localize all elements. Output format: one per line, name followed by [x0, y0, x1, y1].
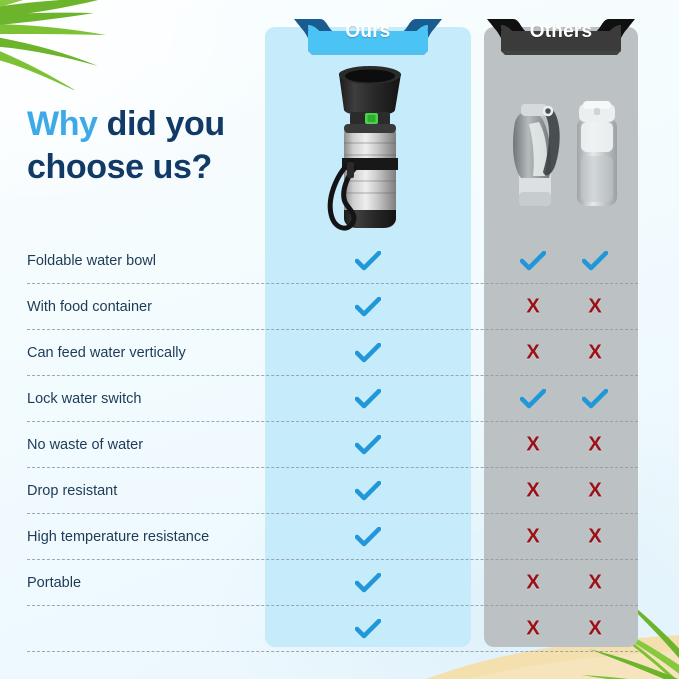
- cross-icon: X: [526, 342, 539, 364]
- cross-icon: X: [588, 618, 601, 640]
- table-row: Lock water switch: [0, 376, 679, 422]
- ours-mark: [351, 481, 385, 501]
- cross-icon: X: [588, 296, 601, 318]
- other1-mark: [516, 251, 550, 271]
- check-icon: [351, 573, 385, 593]
- cross-icon: X: [526, 618, 539, 640]
- row-label: Portable: [27, 575, 81, 591]
- table-row: Portable X X: [0, 560, 679, 606]
- check-icon: [351, 389, 385, 409]
- row-label: Can feed water vertically: [27, 345, 186, 361]
- ours-mark: [351, 343, 385, 363]
- check-icon: [351, 619, 385, 639]
- table-row: Drop resistant X X: [0, 468, 679, 514]
- other1-mark: X: [516, 297, 550, 318]
- other2-mark: X: [578, 343, 612, 364]
- other1-mark: X: [516, 343, 550, 364]
- cross-icon: X: [588, 480, 601, 502]
- table-row: Foldable water bowl: [0, 238, 679, 284]
- other2-mark: X: [578, 435, 612, 456]
- table-row: X X: [0, 606, 679, 652]
- table-row: Can feed water vertically X X: [0, 330, 679, 376]
- ours-mark: [351, 573, 385, 593]
- ours-mark: [351, 619, 385, 639]
- page-title-highlight: Why: [27, 105, 98, 143]
- cross-icon: X: [588, 434, 601, 456]
- ours-mark: [351, 527, 385, 547]
- palm-leaf-top-left-icon: [0, 0, 136, 90]
- other2-mark: X: [578, 297, 612, 318]
- others-product-image: [495, 92, 629, 214]
- check-icon: [351, 435, 385, 455]
- table-row: With food container X X: [0, 284, 679, 330]
- ours-mark: [351, 435, 385, 455]
- other2-mark: [578, 389, 612, 409]
- ours-mark: [351, 389, 385, 409]
- other1-mark: [516, 389, 550, 409]
- page-title: Why did you choose us?: [27, 103, 267, 189]
- check-icon: [516, 389, 550, 409]
- table-row: High temperature resistance X X: [0, 514, 679, 560]
- cross-icon: X: [588, 526, 601, 548]
- check-icon: [351, 343, 385, 363]
- row-label: Foldable water bowl: [27, 253, 156, 269]
- row-divider: [27, 651, 638, 652]
- ours-mark: [351, 251, 385, 271]
- ours-product-image: [309, 62, 427, 242]
- others-column-header: Others: [487, 17, 635, 55]
- other2-mark: X: [578, 619, 612, 640]
- cross-icon: X: [526, 526, 539, 548]
- check-icon: [578, 389, 612, 409]
- other2-mark: X: [578, 481, 612, 502]
- others-label: Others: [487, 21, 635, 43]
- check-icon: [516, 251, 550, 271]
- row-label: High temperature resistance: [27, 529, 209, 545]
- check-icon: [351, 251, 385, 271]
- ours-label: Ours: [294, 21, 442, 43]
- cross-icon: X: [588, 572, 601, 594]
- ours-column-header: Ours: [294, 17, 442, 55]
- row-label: No waste of water: [27, 437, 143, 453]
- comparison-infographic: Why did you choose us? Ours Others: [0, 0, 679, 679]
- check-icon: [578, 251, 612, 271]
- cross-icon: X: [588, 342, 601, 364]
- ours-mark: [351, 297, 385, 317]
- cross-icon: X: [526, 434, 539, 456]
- other2-mark: X: [578, 573, 612, 594]
- other1-mark: X: [516, 435, 550, 456]
- row-label: Drop resistant: [27, 483, 117, 499]
- page-title-line2: choose us?: [27, 148, 212, 186]
- other2-mark: [578, 251, 612, 271]
- other2-mark: X: [578, 527, 612, 548]
- cross-icon: X: [526, 296, 539, 318]
- check-icon: [351, 297, 385, 317]
- comparison-table: Foldable water bowl With food container: [0, 238, 679, 652]
- check-icon: [351, 527, 385, 547]
- check-icon: [351, 481, 385, 501]
- cross-icon: X: [526, 480, 539, 502]
- other1-mark: X: [516, 527, 550, 548]
- row-label: With food container: [27, 299, 152, 315]
- other1-mark: X: [516, 619, 550, 640]
- cross-icon: X: [526, 572, 539, 594]
- other1-mark: X: [516, 481, 550, 502]
- other1-mark: X: [516, 573, 550, 594]
- page-title-rest: did you: [98, 105, 225, 143]
- row-label: Lock water switch: [27, 391, 141, 407]
- table-row: No waste of water X X: [0, 422, 679, 468]
